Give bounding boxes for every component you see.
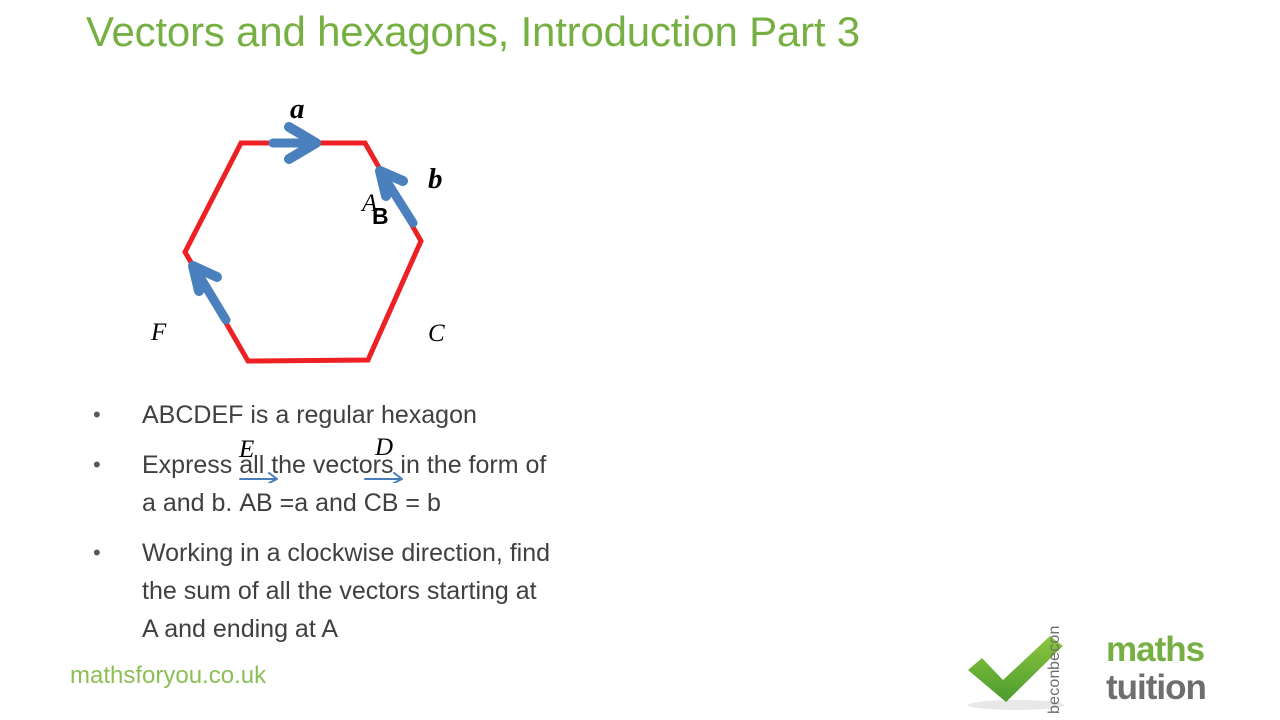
vector-b-label: b	[428, 165, 443, 194]
bullet-text: Working in a clockwise direction, findth…	[142, 534, 696, 648]
bullet-line: Working in a clockwise direction, find	[142, 534, 696, 572]
bullet-line: A and ending at A	[142, 610, 696, 648]
site-url-footer: mathsforyou.co.uk	[70, 662, 266, 690]
bullet-line: the sum of all the vectors starting at	[142, 572, 696, 610]
bullet-line: ABCDEF is a regular hexagon	[142, 396, 696, 434]
bullet-text: ABCDEF is a regular hexagon	[142, 396, 696, 434]
hexagon-vertex-label-C: C	[428, 321, 445, 346]
bullet-text-segment: the sum of all the vectors starting at	[142, 577, 537, 605]
hexagon-diagram: A B C D E F a b	[140, 85, 500, 395]
hexagon-vertex-label-B: B	[372, 205, 389, 228]
bullet-item: •Express all the vectors in the form ofa…	[86, 446, 696, 522]
bullet-marker-icon: •	[86, 396, 142, 434]
logo-wordmark: becon becon maths tuition	[1062, 630, 1224, 714]
bullet-text-segment: ABCDEF is a regular hexagon	[142, 401, 477, 429]
bullet-marker-icon: •	[86, 534, 142, 572]
logo-maths-text: maths	[1106, 632, 1204, 667]
bullet-text: Express all the vectors in the form ofa …	[142, 446, 696, 522]
bullet-text-segment: Working in a clockwise direction, find	[142, 539, 550, 567]
bullet-text-segment: A and ending at A	[142, 615, 338, 643]
page-title: Vectors and hexagons, Introduction Part …	[86, 8, 860, 56]
bullet-text-segment: =a and	[273, 489, 364, 517]
bullet-item: •Working in a clockwise direction, findt…	[86, 534, 696, 648]
hexagon-vertex-label-F: F	[151, 320, 166, 345]
vector-notation-letters: AB	[239, 489, 272, 517]
bullet-item: •ABCDEF is a regular hexagon	[86, 396, 696, 434]
bullet-line: a and b. AB =a and CB = b	[142, 484, 696, 522]
logo-tuition-text: tuition	[1106, 670, 1206, 705]
hexagon-svg	[140, 85, 500, 395]
vector-notation: AB	[239, 484, 272, 522]
bullet-line: Express all the vectors in the form of	[142, 446, 696, 484]
vector-a-label: a	[290, 95, 305, 124]
bullet-text-segment: Express all the vectors in the form of	[142, 451, 546, 479]
bullet-text-segment: a and b.	[142, 489, 239, 517]
vector-notation-letters: CB	[364, 489, 399, 517]
vector-notation: CB	[364, 484, 399, 522]
brand-logo: becon becon maths tuition	[962, 628, 1224, 716]
bullet-list: •ABCDEF is a regular hexagon•Express all…	[86, 396, 696, 660]
vector-a-arrow	[273, 127, 316, 159]
logo-becon-bottom: becon	[1046, 669, 1064, 714]
bullet-text-segment: = b	[398, 489, 440, 517]
bullet-marker-icon: •	[86, 446, 142, 484]
vector-ef-arrow	[193, 266, 226, 320]
logo-becon-top: becon	[1046, 625, 1064, 670]
